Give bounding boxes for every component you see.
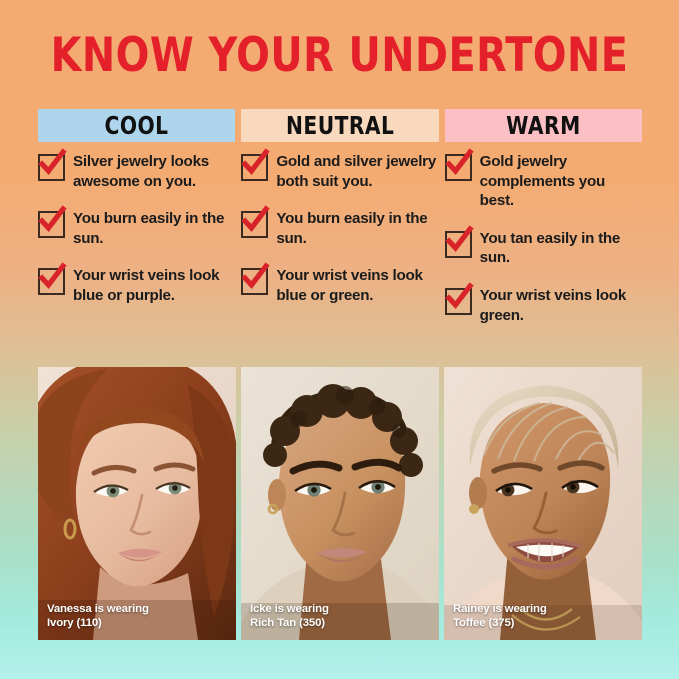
column-neutral: Gold and silver jewelry both suit you. Y… <box>241 152 438 352</box>
caption-line-2: Rich Tan (350) <box>250 617 329 631</box>
checkmark-icon <box>241 211 268 238</box>
checkmark-icon <box>241 154 268 181</box>
header-warm: WARM <box>445 109 642 142</box>
checklist-item-label: You burn easily in the sun. <box>276 209 438 248</box>
caption-line-1: Rainey is wearing <box>453 603 547 617</box>
portrait-illustration <box>444 367 642 640</box>
checklist-item-label: Your wrist veins look blue or green. <box>276 266 438 305</box>
checklist-item: You burn easily in the sun. <box>38 209 235 248</box>
checkmark-icon <box>38 211 65 238</box>
checklist-item: You tan easily in the sun. <box>445 229 642 268</box>
checklist-item: Your wrist veins look blue or purple. <box>38 266 235 305</box>
checkmark-icon <box>38 268 65 295</box>
checklist-item: Your wrist veins look blue or green. <box>241 266 438 305</box>
model-photo-rainey: Rainey is wearing Toffee (375) <box>444 367 642 640</box>
checkmark-icon <box>445 231 472 258</box>
caption-line-2: Ivory (110) <box>47 617 149 631</box>
photo-caption: Vanessa is wearing Ivory (110) <box>47 603 149 631</box>
checklist-item-label: You tan easily in the sun. <box>480 229 642 268</box>
column-cool: Silver jewelry looks awesome on you. You… <box>38 152 235 352</box>
photo-caption: Rainey is wearing Toffee (375) <box>453 603 547 631</box>
caption-line-2: Toffee (375) <box>453 617 547 631</box>
checklist-item: You burn easily in the sun. <box>241 209 438 248</box>
header-cool: COOL <box>38 109 235 142</box>
checklist-item: Silver jewelry looks awesome on you. <box>38 152 235 191</box>
portrait-illustration <box>38 367 236 640</box>
checklist-item-label: Gold and silver jewelry both suit you. <box>276 152 438 191</box>
header-neutral: NEUTRAL <box>241 109 438 142</box>
model-photo-icke: Icke is wearing Rich Tan (350) <box>241 367 439 640</box>
header-warm-label: WARM <box>506 111 581 140</box>
header-neutral-label: NEUTRAL <box>286 111 394 140</box>
checkmark-icon <box>38 154 65 181</box>
checklist-item-label: You burn easily in the sun. <box>73 209 235 248</box>
undertone-checklist-row: Silver jewelry looks awesome on you. You… <box>38 152 642 352</box>
checkmark-icon <box>445 288 472 315</box>
checkmark-icon <box>241 268 268 295</box>
checklist-item-label: Gold jewelry complements you best. <box>480 152 642 211</box>
caption-line-1: Vanessa is wearing <box>47 603 149 617</box>
checklist-item: Your wrist veins look green. <box>445 286 642 325</box>
page-title: KNOW YOUR UNDERTONE <box>20 32 658 79</box>
checklist-item: Gold jewelry complements you best. <box>445 152 642 211</box>
model-photo-vanessa: Vanessa is wearing Ivory (110) <box>38 367 236 640</box>
model-photo-row: Vanessa is wearing Ivory (110) <box>38 367 642 640</box>
caption-line-1: Icke is wearing <box>250 603 329 617</box>
checklist-item-label: Your wrist veins look green. <box>480 286 642 325</box>
checklist-item: Gold and silver jewelry both suit you. <box>241 152 438 191</box>
checklist-item-label: Silver jewelry looks awesome on you. <box>73 152 235 191</box>
photo-caption: Icke is wearing Rich Tan (350) <box>250 603 329 631</box>
checklist-item-label: Your wrist veins look blue or purple. <box>73 266 235 305</box>
portrait-illustration <box>241 367 439 640</box>
column-warm: Gold jewelry complements you best. You t… <box>445 152 642 352</box>
infographic-root: KNOW YOUR UNDERTONE COOL NEUTRAL WARM Si… <box>0 0 679 679</box>
undertone-header-row: COOL NEUTRAL WARM <box>38 109 642 142</box>
checkmark-icon <box>445 154 472 181</box>
header-cool-label: COOL <box>105 111 169 140</box>
